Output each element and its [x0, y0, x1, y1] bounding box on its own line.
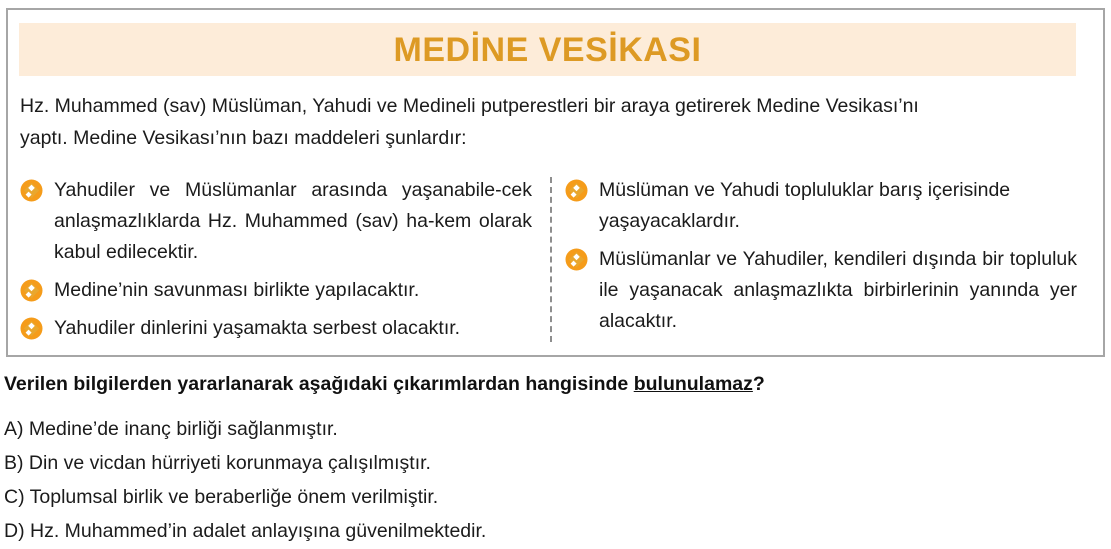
list-item: Yahudiler ve Müslümanlar arasında yaşana… [20, 175, 532, 268]
intro-paragraph: Hz. Muhammed (sav) Müslüman, Yahudi ve M… [20, 90, 1079, 154]
intro-line-2: yaptı. Medine Vesikası’nın bazı maddeler… [20, 122, 1079, 154]
list-item: Yahudiler dinlerini yaşamakta serbest ol… [20, 313, 532, 344]
list-item-text: Yahudiler ve Müslümanlar arasında yaşana… [54, 175, 532, 268]
option-a[interactable]: A) Medine’de inanç birliği sağlanmıştır. [4, 413, 1104, 445]
orange-diamond-bullet-icon [20, 317, 43, 340]
orange-diamond-bullet-icon [565, 179, 588, 202]
list-item-text: Medine’nin savunması birlikte yapılacakt… [54, 275, 532, 306]
info-box-title-band: MEDİNE VESİKASI [19, 23, 1076, 76]
list-item: Müslümanlar ve Yahudiler, kendileri dışı… [565, 244, 1077, 337]
option-d[interactable]: D) Hz. Muhammed’in adalet anlayışına güv… [4, 515, 1104, 547]
list-item-text: Müslümanlar ve Yahudiler, kendileri dışı… [599, 244, 1077, 337]
clauses-right-column: Müslüman ve Yahudi topluluklar barış içe… [565, 175, 1077, 344]
option-b[interactable]: B) Din ve vicdan hürriyeti korunmaya çal… [4, 447, 1104, 479]
option-c[interactable]: C) Toplumsal birlik ve beraberliğe önem … [4, 481, 1104, 513]
question-suffix: ? [753, 373, 765, 395]
intro-line-1: Hz. Muhammed (sav) Müslüman, Yahudi ve M… [20, 90, 1079, 122]
column-divider [550, 177, 552, 342]
list-item-text: Yahudiler dinlerini yaşamakta serbest ol… [54, 313, 532, 344]
orange-diamond-bullet-icon [565, 248, 588, 271]
list-item: Müslüman ve Yahudi topluluklar barış içe… [565, 175, 1077, 237]
clauses-left-column: Yahudiler ve Müslümanlar arasında yaşana… [20, 175, 532, 351]
question-emphasis: bulunulamaz [634, 373, 753, 395]
list-item: Medine’nin savunması birlikte yapılacakt… [20, 275, 532, 306]
question-prompt: Verilen bilgilerden yararlanarak aşağıda… [4, 371, 1104, 397]
answer-options: A) Medine’de inanç birliği sağlanmıştır.… [4, 413, 1104, 549]
list-item-text: Müslüman ve Yahudi topluluklar barış içe… [599, 175, 1077, 237]
question-prefix: Verilen bilgilerden yararlanarak aşağıda… [4, 373, 634, 395]
orange-diamond-bullet-icon [20, 179, 43, 202]
page-title: MEDİNE VESİKASI [394, 33, 702, 67]
orange-diamond-bullet-icon [20, 279, 43, 302]
clauses-columns: Yahudiler ve Müslümanlar arasında yaşana… [20, 175, 1085, 345]
